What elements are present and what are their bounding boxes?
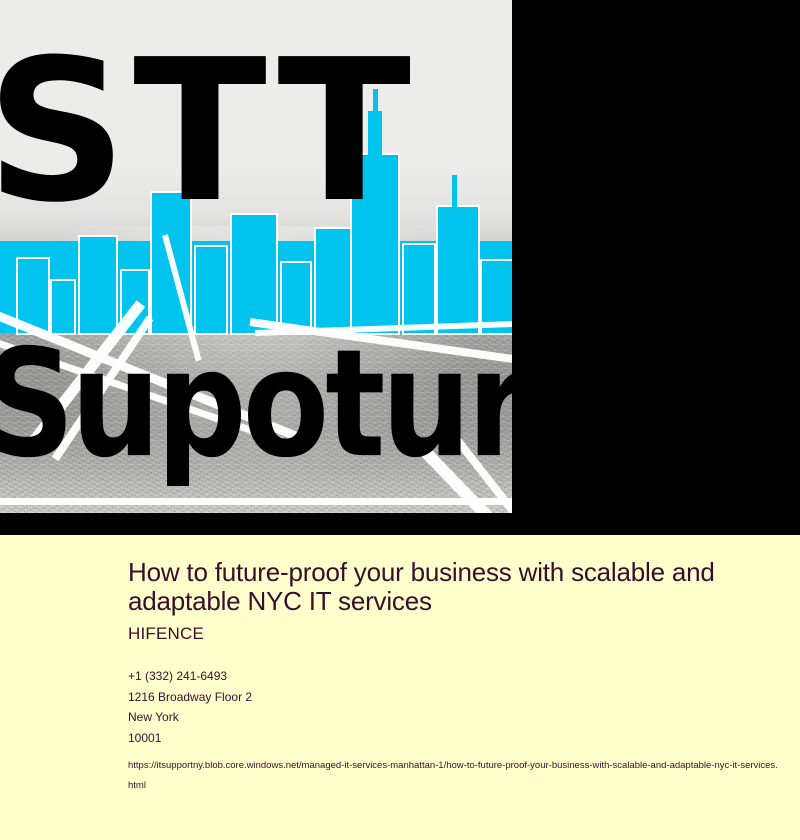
article-summary: How to future-proof your business with s… bbox=[128, 558, 788, 796]
hero-image: STT Supoturt bbox=[0, 0, 512, 513]
contact-details: +1 (332) 241-6493 1216 Broadway Floor 2 … bbox=[128, 666, 788, 749]
skyline-building bbox=[438, 207, 478, 333]
brand-name: HIFENCE bbox=[128, 624, 788, 644]
contact-phone: +1 (332) 241-6493 bbox=[128, 666, 788, 687]
skyline-spire bbox=[452, 175, 457, 207]
contact-city: New York bbox=[128, 707, 788, 728]
hero-band: STT Supoturt bbox=[0, 0, 800, 535]
source-url-link[interactable]: https://itsupportny.blob.core.windows.ne… bbox=[128, 756, 783, 796]
hero-headline-text: STT bbox=[0, 34, 417, 230]
page-title: How to future-proof your business with s… bbox=[128, 558, 788, 616]
contact-zip: 10001 bbox=[128, 728, 788, 749]
light-streak bbox=[0, 498, 512, 505]
hero-subhead-text: Supoturt bbox=[0, 330, 512, 479]
contact-street: 1216 Broadway Floor 2 bbox=[128, 687, 788, 708]
